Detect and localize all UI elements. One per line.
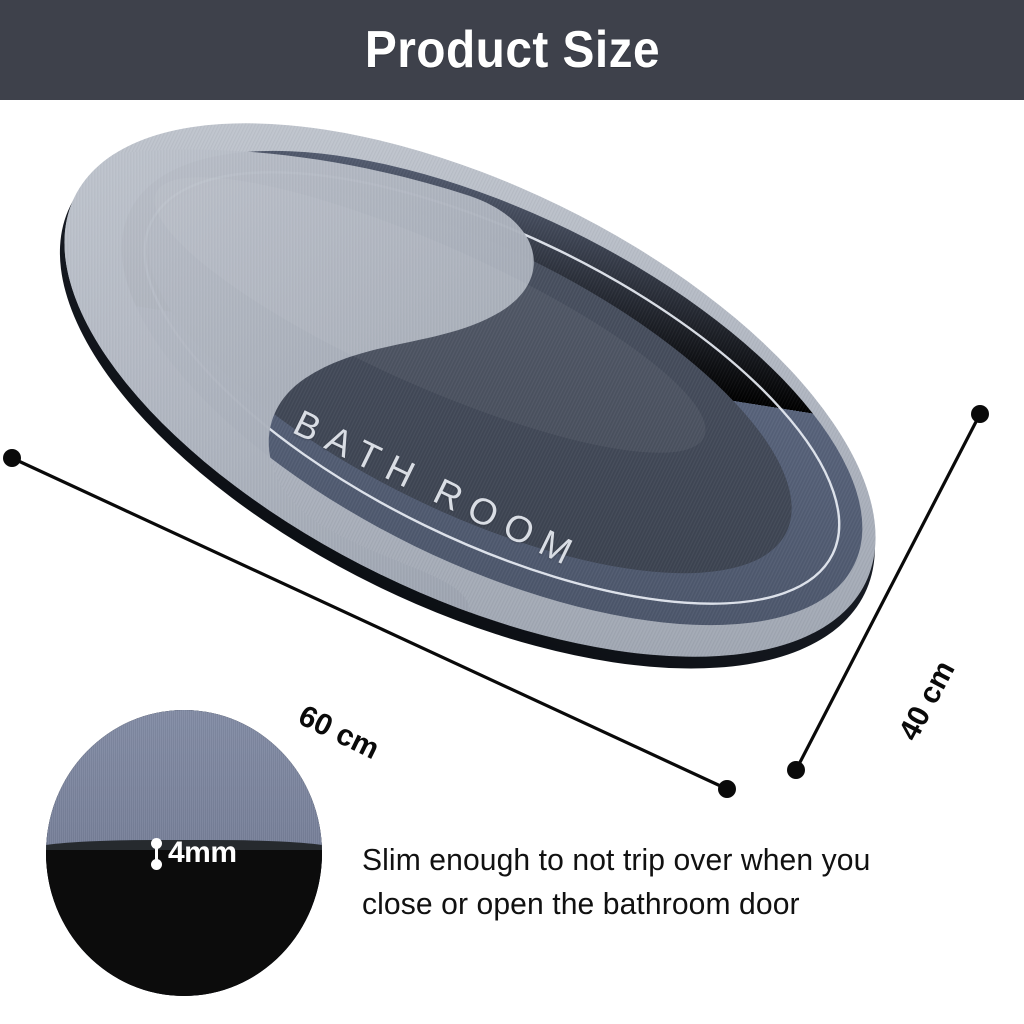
thickness-label: 4mm (168, 836, 237, 870)
thickness-fabric-layer (46, 710, 322, 850)
product-size-infographic: Product Size (0, 0, 1024, 1024)
caption-line-2: close or open the bathroom door (362, 882, 983, 926)
dimension-endpoint-dot (971, 405, 989, 423)
thickness-backing-layer (46, 850, 322, 996)
dimension-endpoint-dot (3, 449, 21, 467)
dimension-endpoint-dot (787, 761, 805, 779)
caption-line-1: Slim enough to not trip over when you (362, 838, 983, 882)
feature-caption: Slim enough to not trip over when you cl… (362, 838, 983, 926)
page-title: Product Size (364, 24, 659, 76)
header-banner: Product Size (0, 0, 1024, 100)
dimension-endpoint-dot (718, 780, 736, 798)
